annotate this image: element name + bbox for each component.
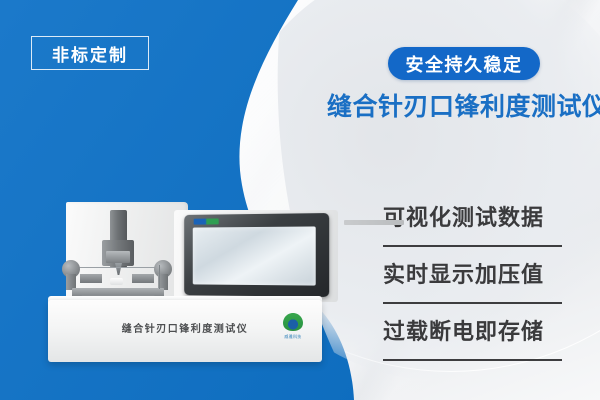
sample-holder xyxy=(110,278,123,285)
feature-label: 可视化测试数据 xyxy=(383,196,565,240)
feature-item: 可视化测试数据 xyxy=(383,196,565,253)
feature-label: 实时显示加压值 xyxy=(383,253,565,297)
clamp-arm-left xyxy=(80,274,102,283)
test-mechanism-assembly xyxy=(58,210,176,302)
clamp-arm-right xyxy=(132,274,154,283)
manufacturer-logo-text: 威雅科技 xyxy=(284,334,301,339)
manufacturer-logo: 威雅科技 xyxy=(278,312,308,346)
stability-pill-badge: 安全持久稳定 xyxy=(388,47,540,80)
banner-canvas: 非标定制 安全持久稳定 缝合针刃口锋利度测试仪 可视化测试数据 实时显示加压值 … xyxy=(0,0,600,400)
feature-item: 过载断电即存储 xyxy=(383,310,565,367)
page-title: 缝合针刃口锋利度测试仪 xyxy=(327,88,593,122)
feature-divider xyxy=(383,245,562,247)
hmi-brand-stripe-icon xyxy=(194,218,219,224)
sensor-cable xyxy=(159,265,160,289)
hmi-touchscreen xyxy=(184,213,329,297)
mechanism-head-block xyxy=(106,251,130,263)
test-wire xyxy=(66,267,168,268)
product-photo-tester-machine: 缝合针刃口锋利度测试仪 威雅科技 xyxy=(46,196,326,366)
hmi-display-surface xyxy=(193,226,316,285)
machine-base: 缝合针刃口锋利度测试仪 威雅科技 xyxy=(48,300,322,362)
needle-holder-tip xyxy=(115,263,122,275)
feature-label: 过载断电即存储 xyxy=(383,310,565,354)
feature-divider xyxy=(383,359,562,361)
feature-divider xyxy=(383,302,562,304)
feature-item: 实时显示加压值 xyxy=(383,253,565,310)
custom-manufacturing-badge: 非标定制 xyxy=(31,36,149,70)
leaf-logo-icon xyxy=(282,312,304,332)
feature-list: 可视化测试数据 实时显示加压值 过载断电即存储 xyxy=(383,196,565,367)
console-vent xyxy=(344,220,404,225)
